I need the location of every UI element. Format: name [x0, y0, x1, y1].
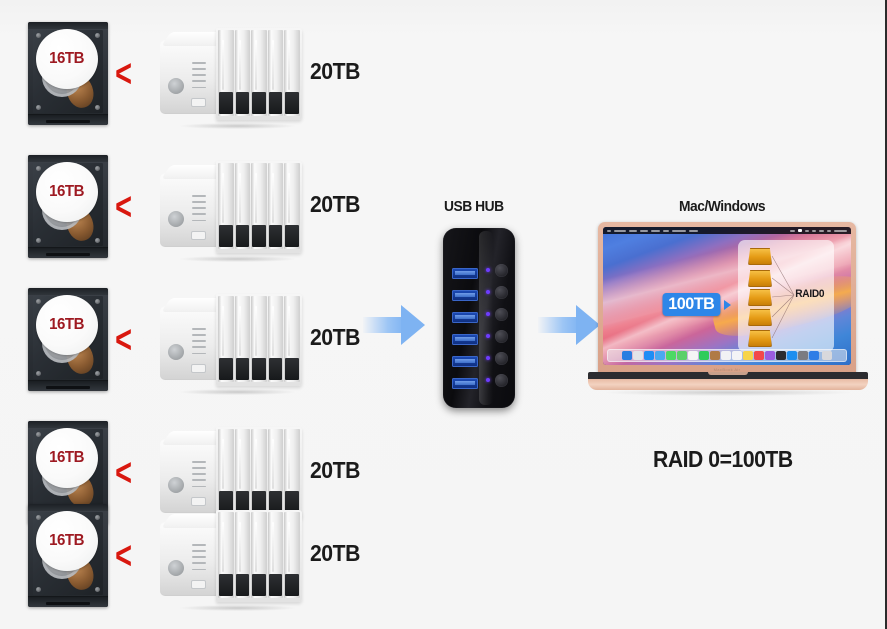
status-led: [192, 473, 206, 475]
hdd-screw: [95, 238, 100, 243]
enclosure-shadow: [180, 389, 295, 395]
hard-drive: 16TB: [28, 504, 108, 607]
status-led: [192, 68, 206, 70]
drive-bay[interactable]: [284, 30, 300, 116]
raid-member-disk-icon: [748, 270, 772, 287]
clock-label[interactable]: [834, 230, 847, 232]
port-power-switch[interactable]: [495, 286, 508, 299]
usb-port-row: [443, 308, 515, 326]
hdd-connector-edge: [28, 380, 108, 391]
enclosure-front-panel: [160, 306, 218, 380]
drive-bay[interactable]: [268, 30, 284, 116]
launchpad-icon[interactable]: [633, 351, 643, 361]
drive-enclosure: [160, 28, 302, 126]
tv-icon[interactable]: [776, 351, 786, 361]
hdd-screw: [95, 166, 100, 171]
storage-row: 16TB<20TB: [0, 155, 400, 275]
menu-item[interactable]: [614, 230, 626, 232]
status-led: [192, 353, 206, 355]
enclosure-front-panel: [160, 173, 218, 247]
status-led: [192, 486, 206, 488]
hard-drive: 16TB: [28, 288, 108, 391]
siri-icon[interactable]: [827, 230, 831, 232]
raid-level-label: RAID0: [795, 288, 824, 300]
status-led-group: [192, 544, 206, 570]
power-button[interactable]: [191, 364, 206, 373]
hdd-screw: [95, 105, 100, 110]
drive-bay[interactable]: [284, 512, 300, 598]
podcasts-icon[interactable]: [765, 351, 775, 361]
menu-item[interactable]: [629, 230, 637, 232]
hdd-capacity-label: 16TB: [50, 50, 85, 68]
drive-enclosure: [160, 294, 302, 392]
status-led: [192, 562, 206, 564]
hdd-capacity-label: 16TB: [50, 316, 85, 334]
menu-bar-status-area[interactable]: [790, 229, 847, 232]
hdd-platter: 16TB: [36, 29, 98, 89]
hdd-screw: [36, 587, 41, 592]
drive-bay[interactable]: [268, 512, 284, 598]
less-than-chevron: <: [115, 457, 139, 489]
hdd-platter: 16TB: [36, 295, 98, 355]
search-icon[interactable]: [819, 230, 824, 232]
hard-drive: 16TB: [28, 155, 108, 258]
drive-enclosure: [160, 510, 302, 608]
messages-icon[interactable]: [666, 351, 676, 361]
raid-member-disk-icon: [748, 248, 772, 265]
drive-bay[interactable]: [251, 296, 267, 382]
hdd-connector-edge: [28, 114, 108, 125]
capacity-badge: 100TB: [663, 293, 721, 316]
status-led-group: [192, 461, 206, 487]
brand-logo-icon: [168, 477, 184, 493]
raid-member-disk-icon: [748, 309, 772, 326]
music-icon[interactable]: [754, 351, 764, 361]
hdd-screw: [95, 432, 100, 437]
laptop-lid: RAID0 100TB MacBook Air: [598, 222, 856, 374]
usb-port-row: [443, 286, 515, 304]
enclosure-shadow: [180, 123, 295, 129]
status-led: [192, 74, 206, 76]
storage-row: 16TB<20TB: [0, 288, 400, 408]
usb-port-row: [443, 264, 515, 282]
less-than-chevron: <: [115, 58, 139, 90]
enclosure-shadow: [180, 256, 295, 262]
wifi-icon[interactable]: [805, 230, 809, 232]
trash-icon[interactable]: [822, 351, 832, 361]
usb-3-port[interactable]: [452, 268, 478, 279]
hdd-connector-edge: [28, 596, 108, 607]
port-power-switch[interactable]: [495, 308, 508, 321]
reminders-icon[interactable]: [732, 351, 742, 361]
drive-bay[interactable]: [251, 30, 267, 116]
usb-3-port[interactable]: [452, 290, 478, 301]
drive-bay[interactable]: [235, 296, 251, 382]
drive-bay[interactable]: [218, 512, 234, 598]
arrow-to-hub: [363, 303, 425, 347]
drive-bay[interactable]: [251, 163, 267, 249]
hdd-screw: [36, 371, 41, 376]
hdd-screw: [36, 33, 41, 38]
hdd-capacity-label: 16TB: [50, 532, 85, 550]
brand-logo-icon: [168, 211, 184, 227]
enclosure-front-panel: [160, 522, 218, 596]
port-led-icon: [486, 312, 490, 316]
hdd-top-edge: [28, 504, 108, 511]
status-led: [192, 220, 206, 222]
hdd-screw: [95, 299, 100, 304]
enclosure-capacity-label: 20TB: [310, 191, 360, 218]
maps-icon[interactable]: [677, 351, 687, 361]
capacity-badge-pointer: [724, 300, 731, 310]
menu-item[interactable]: [672, 230, 686, 232]
notes-icon[interactable]: [743, 351, 753, 361]
photos-icon[interactable]: [688, 351, 698, 361]
hdd-screw: [36, 105, 41, 110]
usb-3-port[interactable]: [452, 334, 478, 345]
raid-member-disk-icon: [748, 330, 772, 347]
drive-bay[interactable]: [284, 163, 300, 249]
power-button[interactable]: [191, 98, 206, 107]
raid-panel: RAID0: [738, 240, 834, 352]
drive-bay-group: [216, 161, 302, 253]
status-led-group: [192, 195, 206, 221]
enclosure-capacity-label: 20TB: [310, 457, 360, 484]
hdd-screw: [36, 515, 41, 520]
drive-bay[interactable]: [235, 512, 251, 598]
drive-enclosure: [160, 161, 302, 259]
port-led-icon: [486, 334, 490, 338]
calendar-icon[interactable]: [721, 351, 731, 361]
hdd-top-edge: [28, 421, 108, 428]
hdd-screw: [36, 299, 41, 304]
usb-port-row: [443, 330, 515, 348]
drive-bay[interactable]: [284, 429, 300, 515]
facetime-icon[interactable]: [699, 351, 709, 361]
port-led-icon: [486, 356, 490, 360]
menu-item[interactable]: [651, 230, 660, 232]
drive-bay[interactable]: [268, 163, 284, 249]
status-led: [192, 479, 206, 481]
port-power-switch[interactable]: [495, 374, 508, 387]
arrow-head: [401, 305, 425, 345]
port-power-switch[interactable]: [495, 330, 508, 343]
port-led-icon: [486, 378, 490, 382]
port-led-icon: [486, 268, 490, 272]
mail-icon[interactable]: [655, 351, 665, 361]
hdd-screw: [36, 432, 41, 437]
hdd-screw: [95, 371, 100, 376]
port-power-switch[interactable]: [495, 264, 508, 277]
safari-icon[interactable]: [644, 351, 654, 361]
drive-bay[interactable]: [235, 163, 251, 249]
status-led: [192, 328, 206, 330]
hdd-platter: 16TB: [36, 162, 98, 222]
hard-drive: 16TB: [28, 22, 108, 125]
status-led: [192, 340, 206, 342]
hdd-top-edge: [28, 155, 108, 162]
enclosure-front-panel: [160, 40, 218, 114]
usb-3-port[interactable]: [452, 312, 478, 323]
laptop-base-notch: [708, 372, 748, 375]
status-led-group: [192, 328, 206, 354]
enclosure-front-panel: [160, 439, 218, 513]
diagram-canvas: 16TB<20TB16TB<20TB16TB<20TB16TB<20TB16TB…: [0, 0, 887, 629]
drive-bay[interactable]: [284, 296, 300, 382]
status-led: [192, 467, 206, 469]
hdd-screw: [95, 33, 100, 38]
drive-bay[interactable]: [218, 30, 234, 116]
usb-3-port[interactable]: [452, 356, 478, 367]
status-led: [192, 556, 206, 558]
status-led: [192, 569, 206, 571]
laptop-shadow: [606, 389, 850, 396]
finder-icon[interactable]: [622, 351, 632, 361]
drive-bay[interactable]: [251, 512, 267, 598]
storage-row: 16TB<20TB: [0, 22, 400, 142]
enclosure-capacity-label: 20TB: [310, 58, 360, 85]
hdd-top-edge: [28, 288, 108, 295]
raid-member-disk-icon: [748, 289, 772, 306]
apple-menu-icon[interactable]: [607, 230, 611, 232]
laptop-screen: RAID0 100TB: [603, 227, 851, 365]
hdd-screw: [36, 166, 41, 171]
hdd-platter: 16TB: [36, 511, 98, 571]
less-than-chevron: <: [115, 540, 139, 572]
contacts-icon[interactable]: [710, 351, 720, 361]
status-led: [192, 201, 206, 203]
laptop-device: RAID0 100TB MacBook Air: [588, 222, 868, 412]
status-led: [192, 62, 206, 64]
drive-bay[interactable]: [268, 429, 284, 515]
less-than-chevron: <: [115, 324, 139, 356]
brand-logo-icon: [168, 78, 184, 94]
menu-item[interactable]: [689, 230, 698, 232]
usb-hub-device[interactable]: [443, 228, 515, 408]
status-icon[interactable]: [790, 230, 795, 232]
arrow-shaft: [363, 317, 405, 333]
drive-bay[interactable]: [218, 429, 234, 515]
control-center-icon[interactable]: [798, 229, 802, 232]
status-led: [192, 195, 206, 197]
usb-port-row: [443, 352, 515, 370]
systemprefs-icon[interactable]: [798, 351, 808, 361]
status-led: [192, 334, 206, 336]
hdd-screw: [95, 587, 100, 592]
brand-logo-icon: [168, 344, 184, 360]
drive-bay[interactable]: [218, 296, 234, 382]
screenshot-icon[interactable]: [809, 351, 819, 361]
status-led: [192, 80, 206, 82]
drive-bay[interactable]: [235, 429, 251, 515]
arrow-shaft: [538, 317, 580, 333]
status-led: [192, 544, 206, 546]
hdd-top-edge: [28, 22, 108, 29]
hdd-platter: 16TB: [36, 428, 98, 488]
port-power-switch[interactable]: [495, 352, 508, 365]
hdd-capacity-label: 16TB: [50, 183, 85, 201]
status-led: [192, 346, 206, 348]
drive-bay[interactable]: [235, 30, 251, 116]
usb-hub-title: USB HUB: [444, 198, 504, 215]
hdd-screw: [95, 515, 100, 520]
storage-row: 16TB<20TB: [0, 504, 400, 624]
usb-port-row: [443, 374, 515, 392]
drive-bay[interactable]: [251, 429, 267, 515]
hdd-connector-edge: [28, 247, 108, 258]
status-led: [192, 207, 206, 209]
laptop-title: Mac/Windows: [679, 198, 765, 215]
power-button[interactable]: [191, 231, 206, 240]
enclosure-shadow: [180, 605, 295, 611]
battery-icon[interactable]: [812, 230, 816, 232]
drive-bay[interactable]: [218, 163, 234, 249]
menu-item[interactable]: [640, 230, 648, 232]
status-led: [192, 461, 206, 463]
hdd-capacity-label: 16TB: [50, 449, 85, 467]
status-led: [192, 550, 206, 552]
enclosure-capacity-label: 20TB: [310, 324, 360, 351]
less-than-chevron: <: [115, 191, 139, 223]
laptop-base: [588, 372, 868, 390]
raid-total-label: RAID 0=100TB: [653, 446, 793, 473]
appstore-icon[interactable]: [787, 351, 797, 361]
drive-bay-group: [216, 510, 302, 602]
drive-bay-group: [216, 294, 302, 386]
drive-bay[interactable]: [268, 296, 284, 382]
status-led: [192, 213, 206, 215]
brand-logo-icon: [168, 560, 184, 576]
hdd-screw: [36, 238, 41, 243]
menu-item[interactable]: [663, 230, 669, 232]
menu-bar[interactable]: [603, 227, 851, 234]
enclosure-capacity-label: 20TB: [310, 540, 360, 567]
usb-3-port[interactable]: [452, 378, 478, 389]
drive-bay-group: [216, 28, 302, 120]
power-button[interactable]: [191, 580, 206, 589]
dock[interactable]: [607, 349, 847, 362]
port-led-icon: [486, 290, 490, 294]
status-led: [192, 87, 206, 89]
status-led-group: [192, 62, 206, 88]
